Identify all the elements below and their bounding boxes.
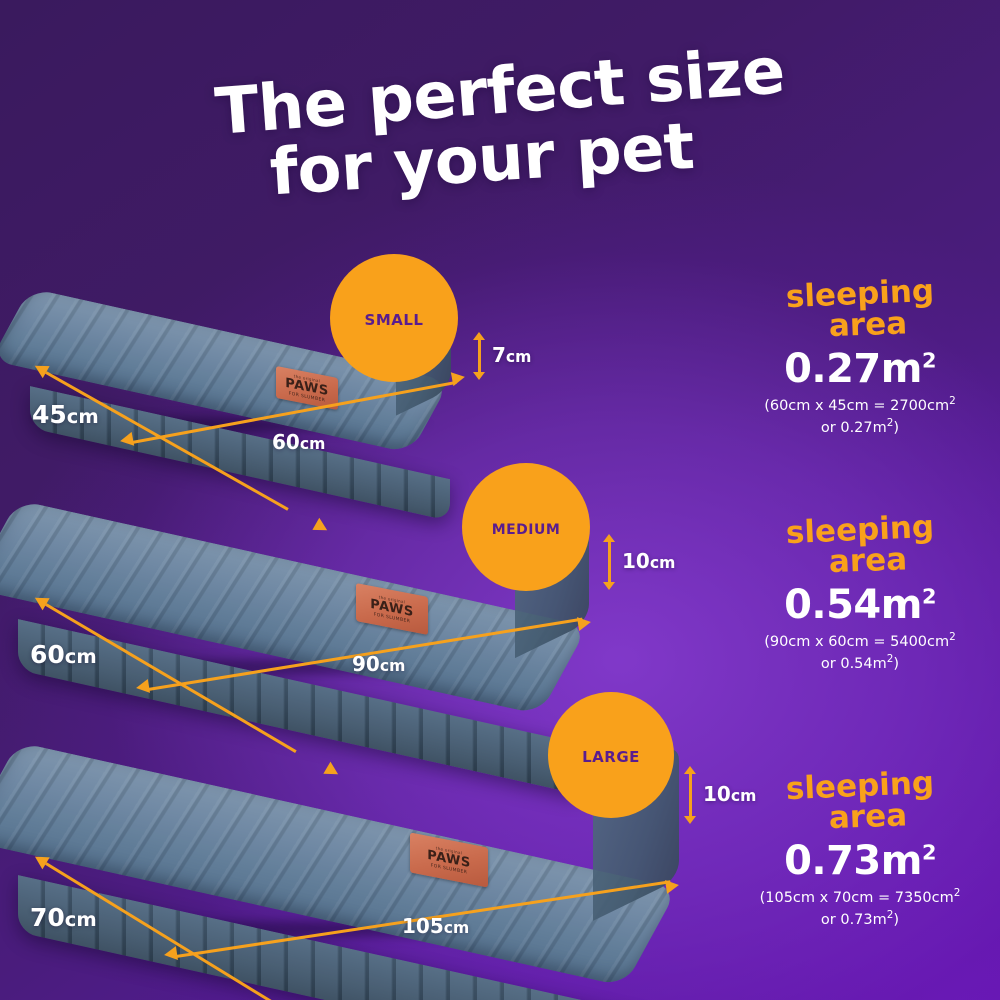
- dimension-arrow-height-small: [472, 332, 486, 380]
- height-arrow-shaft-medium: [608, 540, 611, 584]
- width-arrow-head-right-medium: [577, 615, 592, 631]
- dimension-arrow-height-large: [683, 766, 697, 824]
- sleeping-area-info-small: sleeping area 0.27m2 (60cm x 45cm = 2700…: [725, 280, 995, 439]
- sleeping-area-heading: sleeping area: [725, 516, 995, 575]
- dimension-label-height-small: 7cm: [492, 343, 531, 367]
- dimension-label-height-medium: 10cm: [622, 549, 675, 573]
- size-badge-small[interactable]: small: [330, 254, 458, 382]
- dimension-label-width-medium: 90cm: [352, 652, 405, 676]
- size-badge-medium[interactable]: medium: [462, 463, 590, 591]
- sleeping-area-info-large: sleeping area 0.73m2 (105cm x 70cm = 735…: [725, 772, 995, 931]
- dimension-label-depth-small: 45cm: [32, 400, 99, 429]
- sleeping-area-note: (90cm x 60cm = 5400cm2 or 0.54m2): [725, 630, 995, 675]
- size-badge-large-label: large: [582, 743, 640, 768]
- width-arrow-head-left-small: [119, 432, 134, 448]
- height-arrow-shaft-small: [478, 338, 481, 374]
- dimension-label-depth-large: 70cm: [30, 903, 97, 932]
- sleeping-area-note: (60cm x 45cm = 2700cm2 or 0.27m2): [725, 394, 995, 439]
- sleeping-area-heading: sleeping area: [725, 280, 995, 339]
- page-title: The perfect size for your pet: [0, 62, 1000, 190]
- size-badge-medium-label: medium: [492, 515, 561, 539]
- height-arrow-head-down-large: [684, 816, 696, 824]
- width-arrow-head-right-large: [665, 878, 680, 894]
- sleeping-area-info-medium: sleeping area 0.54m2 (90cm x 60cm = 5400…: [725, 516, 995, 675]
- width-arrow-head-right-small: [451, 370, 466, 386]
- height-arrow-head-down-medium: [603, 582, 615, 590]
- dimension-label-width-small: 60cm: [272, 430, 325, 454]
- sleeping-area-heading: sleeping area: [725, 772, 995, 831]
- sleeping-area-value: 0.54m2: [725, 585, 995, 625]
- sleeping-area-value: 0.27m2: [725, 349, 995, 389]
- size-badge-large[interactable]: large: [548, 692, 674, 818]
- dimension-label-width-large: 105cm: [402, 914, 469, 938]
- sleeping-area-value: 0.73m2: [725, 841, 995, 881]
- width-arrow-head-left-medium: [135, 679, 150, 695]
- sleeping-area-note: (105cm x 70cm = 7350cm2 or 0.73m2): [725, 886, 995, 931]
- infographic-canvas: The perfect size for your pet the origin…: [0, 0, 1000, 1000]
- width-arrow-head-left-large: [163, 946, 178, 962]
- dimension-arrow-height-medium: [602, 534, 616, 590]
- dimension-label-depth-medium: 60cm: [30, 640, 97, 669]
- size-badge-small-label: small: [365, 306, 424, 331]
- height-arrow-head-down-small: [473, 372, 485, 380]
- height-arrow-shaft-large: [689, 772, 692, 818]
